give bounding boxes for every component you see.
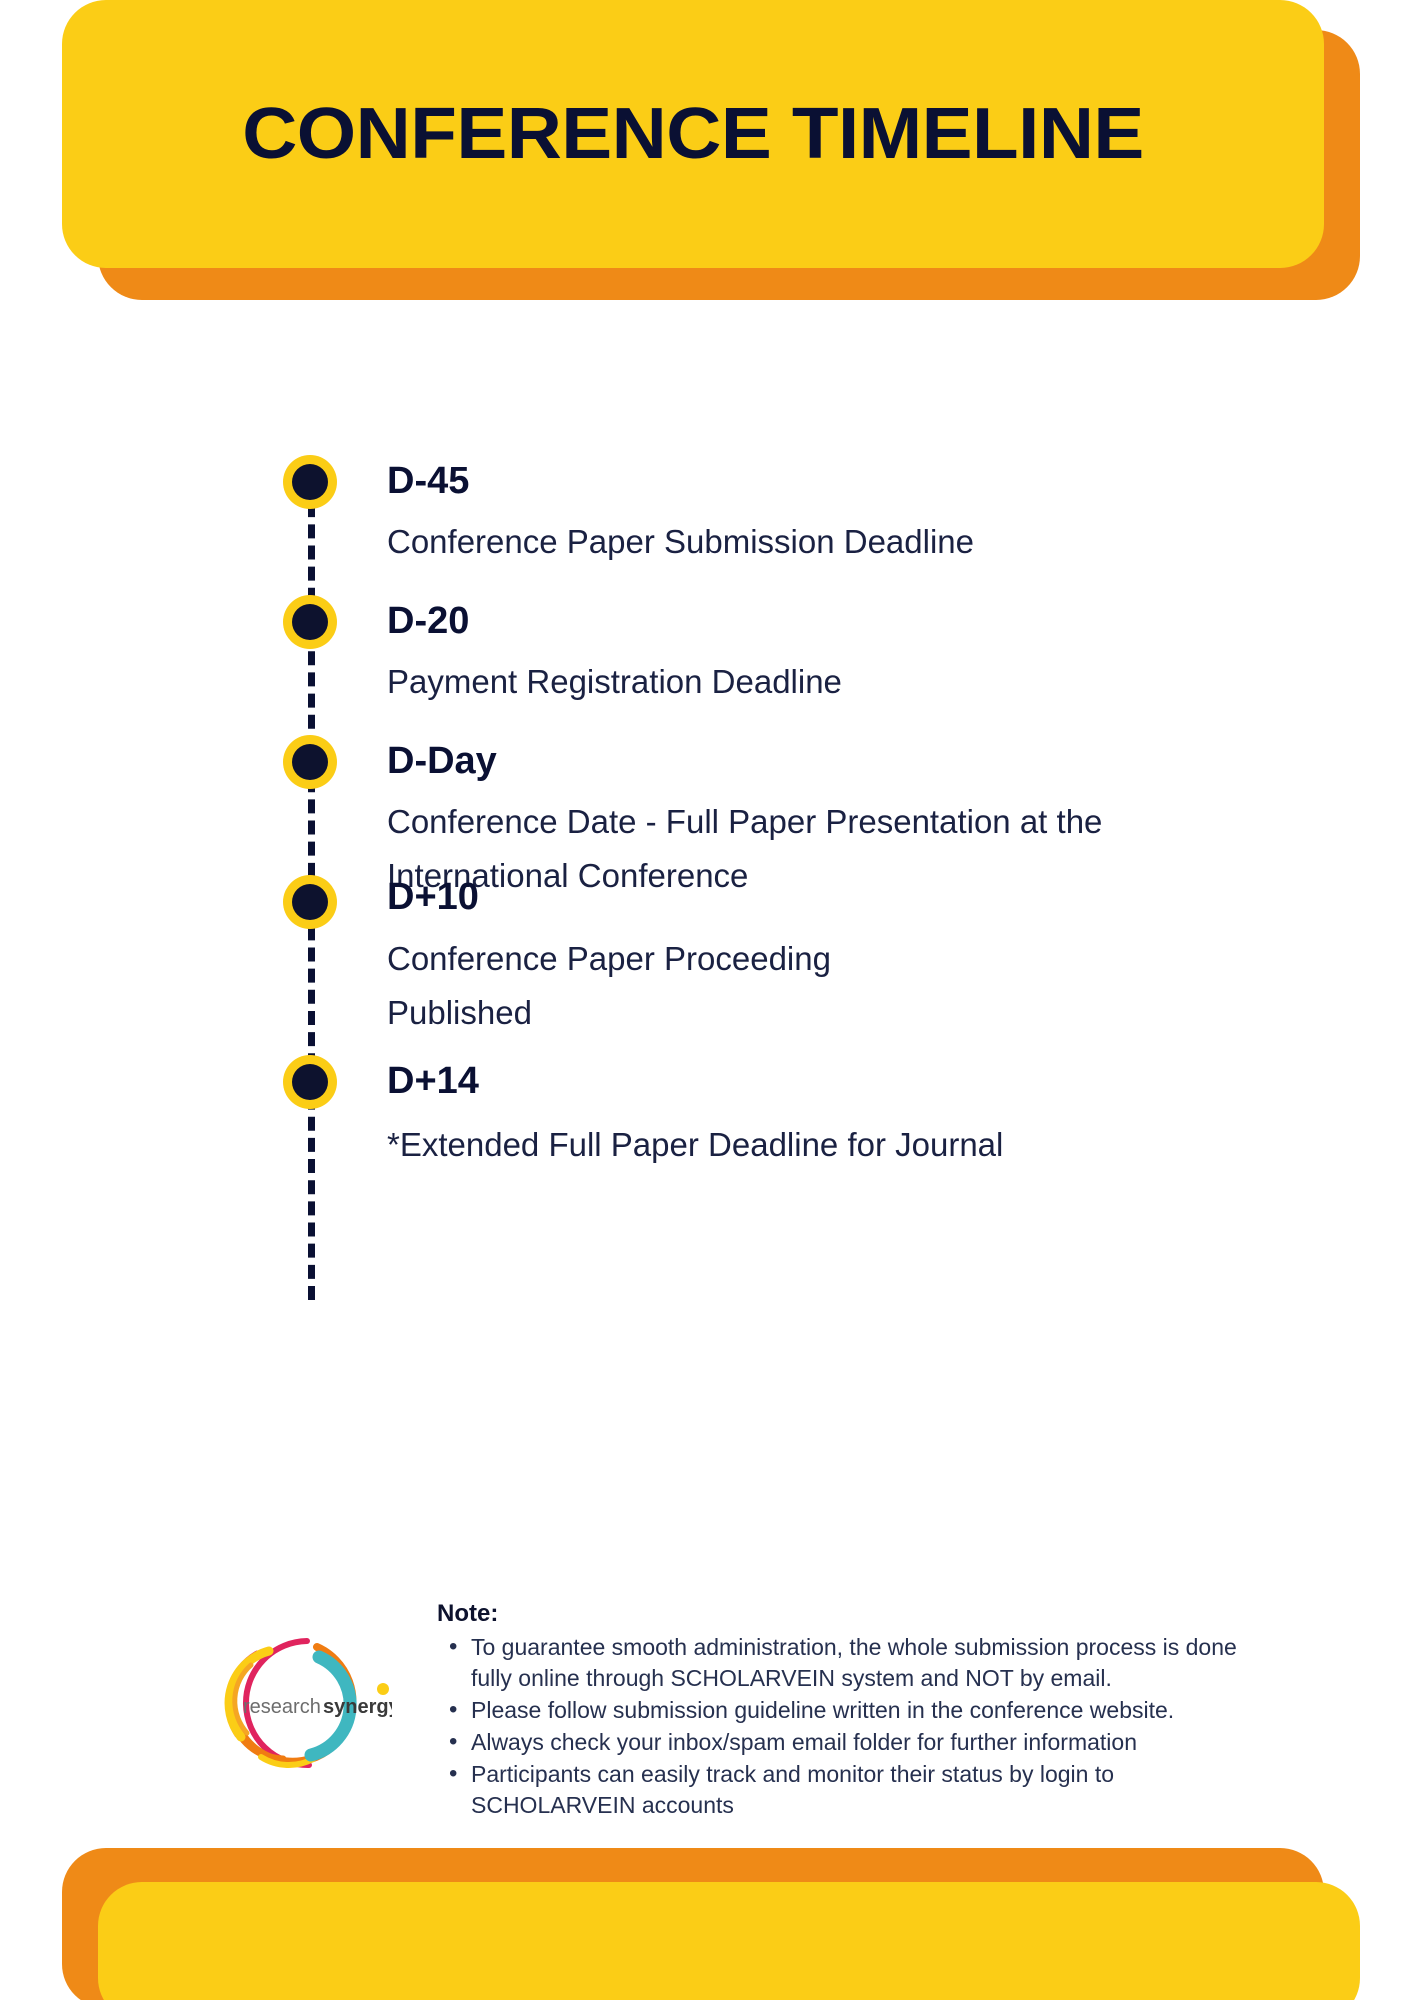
timeline-marker-icon bbox=[283, 735, 337, 789]
timeline-marker-dot-icon bbox=[292, 884, 328, 920]
page-title: CONFERENCE TIMELINE bbox=[24, 0, 1362, 268]
timeline-marker-icon bbox=[283, 595, 337, 649]
timeline-item-label: D-20 bbox=[387, 600, 469, 643]
timeline-marker-dot-icon bbox=[292, 464, 328, 500]
timeline-item-label: D+10 bbox=[387, 876, 479, 919]
logo-word-research: research bbox=[243, 1696, 321, 1718]
header-card: CONFERENCE TIMELINE bbox=[62, 0, 1324, 268]
logo-svg: research synergy bbox=[207, 1625, 392, 1785]
timeline-item-description: Conference Paper Submission Deadline bbox=[387, 515, 1292, 569]
conference-timeline-poster: CONFERENCE TIMELINE D-45 Conference Pape… bbox=[0, 0, 1414, 2000]
note-title: Note: bbox=[437, 1600, 1257, 1628]
timeline-marker-icon bbox=[283, 1055, 337, 1109]
timeline-marker-dot-icon bbox=[292, 1064, 328, 1100]
timeline-marker-dot-icon bbox=[292, 604, 328, 640]
research-synergy-logo: research synergy bbox=[207, 1625, 392, 1785]
note-block: Note: To guarantee smooth administration… bbox=[437, 1600, 1257, 1822]
note-list: To guarantee smooth administration, the … bbox=[437, 1632, 1257, 1821]
timeline-marker-icon bbox=[283, 455, 337, 509]
footer-banner bbox=[0, 1840, 1414, 2000]
note-list-item: Please follow submission guideline writt… bbox=[437, 1695, 1257, 1726]
timeline-item-description: Payment Registration Deadline bbox=[387, 655, 1292, 709]
timeline-item-description: *Extended Full Paper Deadline for Journa… bbox=[387, 1118, 1292, 1172]
note-list-item: Always check your inbox/spam email folde… bbox=[437, 1727, 1257, 1758]
timeline-item-label: D-Day bbox=[387, 740, 497, 783]
timeline-item-description: Conference Date - Full Paper Presentatio… bbox=[387, 795, 1292, 903]
timeline-item-description: Conference Paper Proceeding Published bbox=[387, 932, 1292, 1040]
timeline-item-label: D+14 bbox=[387, 1060, 479, 1103]
note-list-item: Participants can easily track and monito… bbox=[437, 1759, 1257, 1821]
logo-word-synergy: synergy bbox=[323, 1696, 392, 1718]
note-list-item: To guarantee smooth administration, the … bbox=[437, 1632, 1257, 1694]
timeline-marker-dot-icon bbox=[292, 744, 328, 780]
logo-dot-icon bbox=[377, 1683, 389, 1695]
timeline-marker-icon bbox=[283, 875, 337, 929]
footer-card bbox=[98, 1882, 1360, 2000]
timeline-item-label: D-45 bbox=[387, 460, 469, 503]
header-banner: CONFERENCE TIMELINE bbox=[0, 0, 1414, 310]
